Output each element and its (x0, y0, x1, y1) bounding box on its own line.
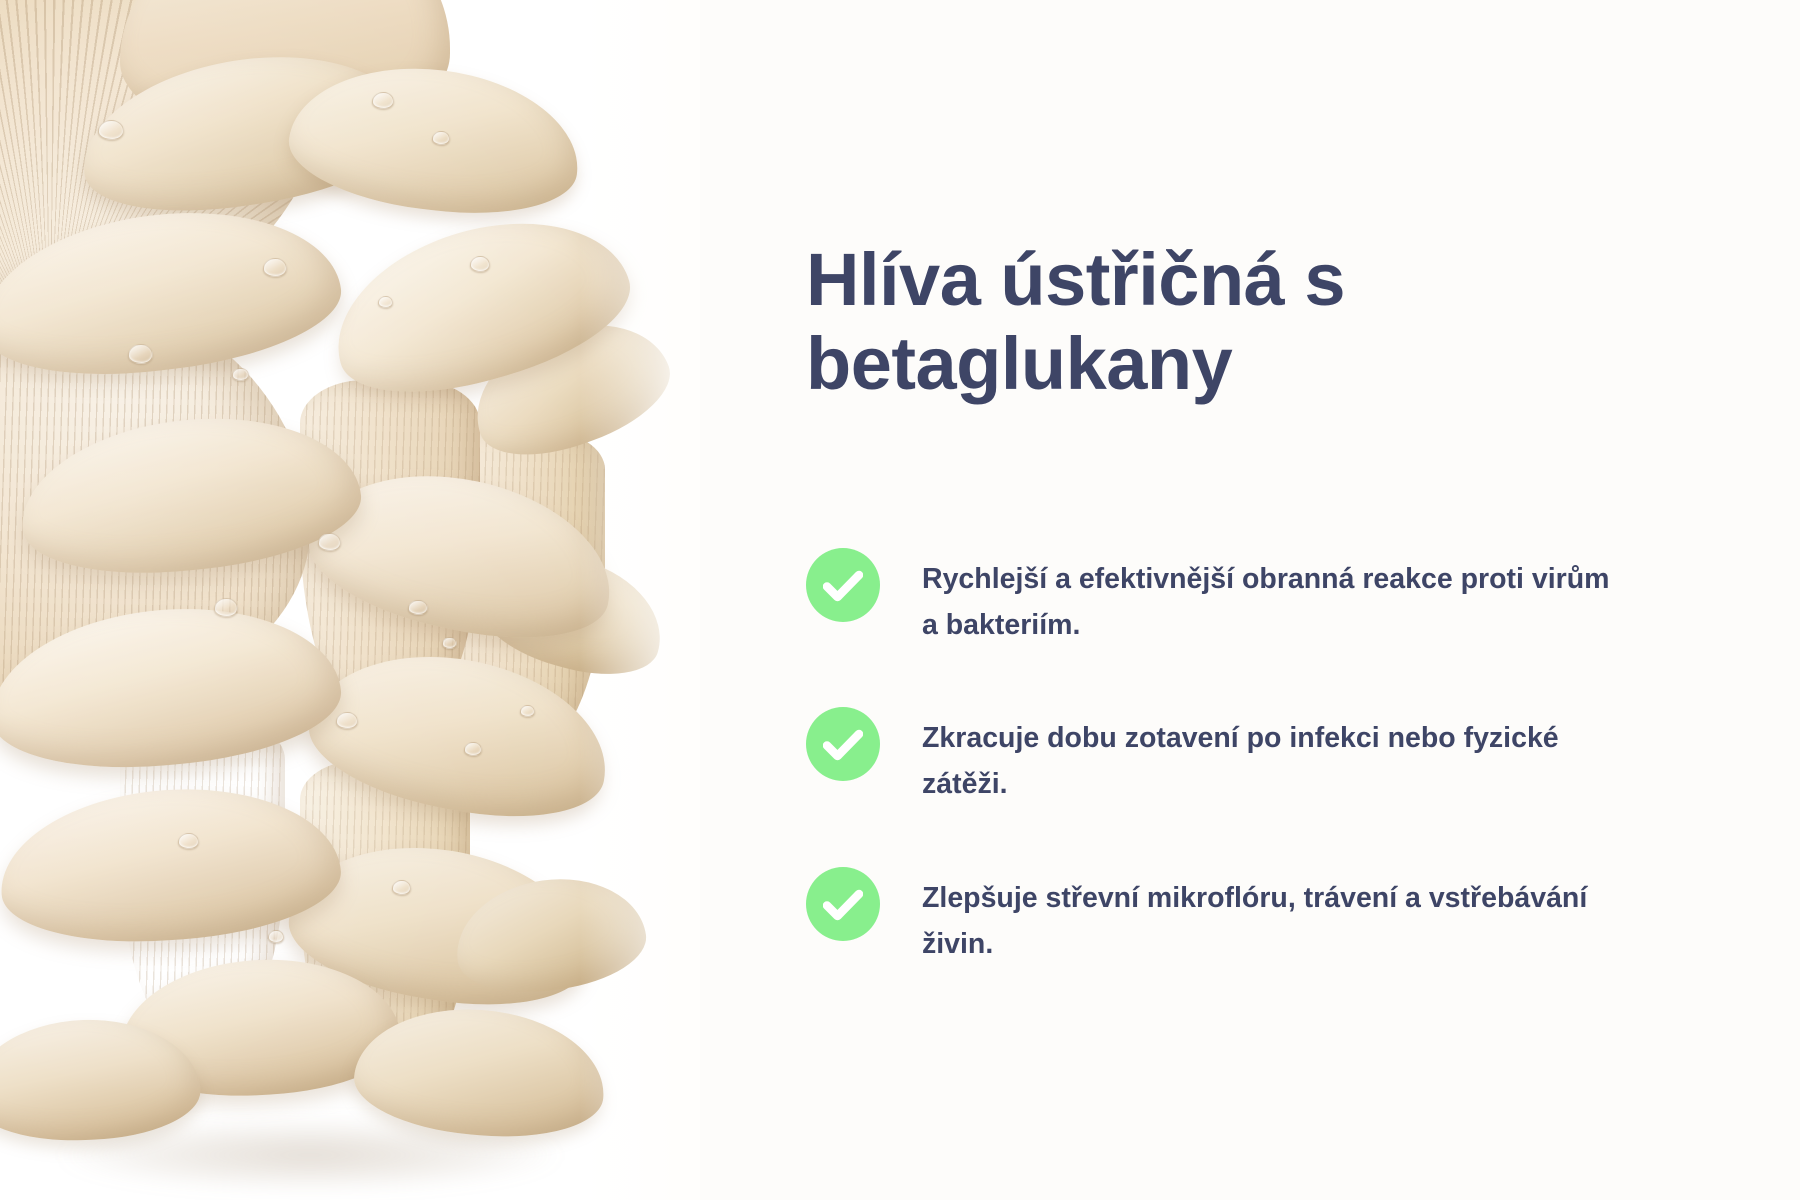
benefit-list: Rychlejší a efektivnější obranná reakce … (806, 552, 1636, 967)
promo-banner: Hlíva ústřičná s betaglukany Rychlejší a… (0, 0, 1800, 1200)
water-droplet (392, 880, 411, 895)
water-droplet (470, 256, 490, 272)
water-droplet (408, 600, 428, 615)
benefit-text: Zlepšuje střevní mikroflóru, trávení a v… (922, 871, 1622, 967)
page-title: Hlíva ústřičná s betaglukany (806, 238, 1606, 407)
content-column: Hlíva ústřičná s betaglukany Rychlejší a… (806, 0, 1800, 1200)
water-droplet (263, 258, 287, 277)
water-droplet (128, 344, 153, 364)
mushroom-photo (0, 0, 700, 1200)
list-item: Zlepšuje střevní mikroflóru, trávení a v… (806, 871, 1636, 967)
water-droplet (378, 296, 393, 308)
list-item: Rychlejší a efektivnější obranná reakce … (806, 552, 1636, 648)
benefit-text: Zkracuje dobu zotavení po infekci nebo f… (922, 711, 1622, 807)
check-circle-icon (806, 548, 880, 622)
water-droplet (178, 833, 199, 849)
water-droplet (214, 598, 238, 617)
water-droplet (432, 131, 450, 145)
mushroom-cap-4 (315, 192, 645, 419)
list-item: Zkracuje dobu zotavení po infekci nebo f… (806, 711, 1636, 807)
water-droplet (232, 368, 249, 381)
water-droplet (268, 930, 284, 943)
water-droplet (442, 637, 457, 649)
water-droplet (318, 533, 341, 551)
check-circle-icon (806, 867, 880, 941)
water-droplet (98, 120, 124, 140)
water-droplet (464, 742, 482, 756)
water-droplet (372, 92, 394, 109)
benefit-text: Rychlejší a efektivnější obranná reakce … (922, 552, 1622, 648)
water-droplet (336, 712, 358, 729)
check-circle-icon (806, 707, 880, 781)
water-droplet (520, 705, 535, 717)
